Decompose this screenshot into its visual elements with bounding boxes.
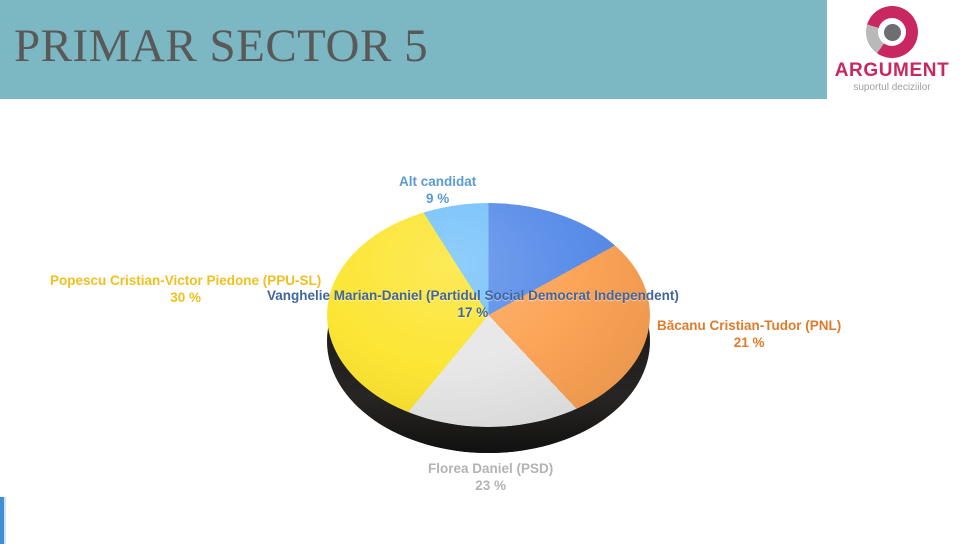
- slice-label-value: 23 %: [428, 477, 553, 494]
- slice-label-vanghelie: Vanghelie Marian-Daniel (Partidul Social…: [267, 287, 679, 321]
- slide: PRIMAR SECTOR 5 ARGUMENT suportul decizi…: [0, 0, 970, 544]
- slice-label-text: Vanghelie Marian-Daniel (Partidul Social…: [267, 288, 679, 303]
- slice-label-alt-candidat: Alt candidat 9 %: [399, 173, 476, 207]
- pie-chart: Alt candidat 9 % Popescu Cristian-Victor…: [0, 99, 970, 544]
- brand-name: ARGUMENT: [828, 60, 956, 81]
- slice-label-value: 21 %: [657, 334, 841, 351]
- brand-logo: ARGUMENT suportul deciziilor: [828, 6, 956, 98]
- slice-label-florea: Florea Daniel (PSD) 23 %: [428, 460, 553, 494]
- slice-label-text: Băcanu Cristian-Tudor (PNL): [657, 318, 841, 333]
- slice-label-text: Alt candidat: [399, 174, 476, 189]
- header-banner: PRIMAR SECTOR 5: [0, 0, 827, 99]
- ring-icon: [866, 6, 918, 58]
- pie-graphic: [327, 203, 650, 453]
- slice-label-text: Popescu Cristian-Victor Piedone (PPU-SL): [50, 273, 321, 288]
- slice-label-value: 9 %: [399, 190, 476, 207]
- page-title: PRIMAR SECTOR 5: [14, 16, 428, 76]
- brand-tagline: suportul deciziilor: [828, 81, 956, 94]
- slice-label-bacanu: Băcanu Cristian-Tudor (PNL) 21 %: [657, 317, 841, 351]
- slice-label-text: Florea Daniel (PSD): [428, 461, 553, 476]
- slice-label-value: 17 %: [267, 304, 679, 321]
- ring-icon-center-dot: [884, 24, 901, 41]
- accent-stripe-soft: [4, 497, 6, 544]
